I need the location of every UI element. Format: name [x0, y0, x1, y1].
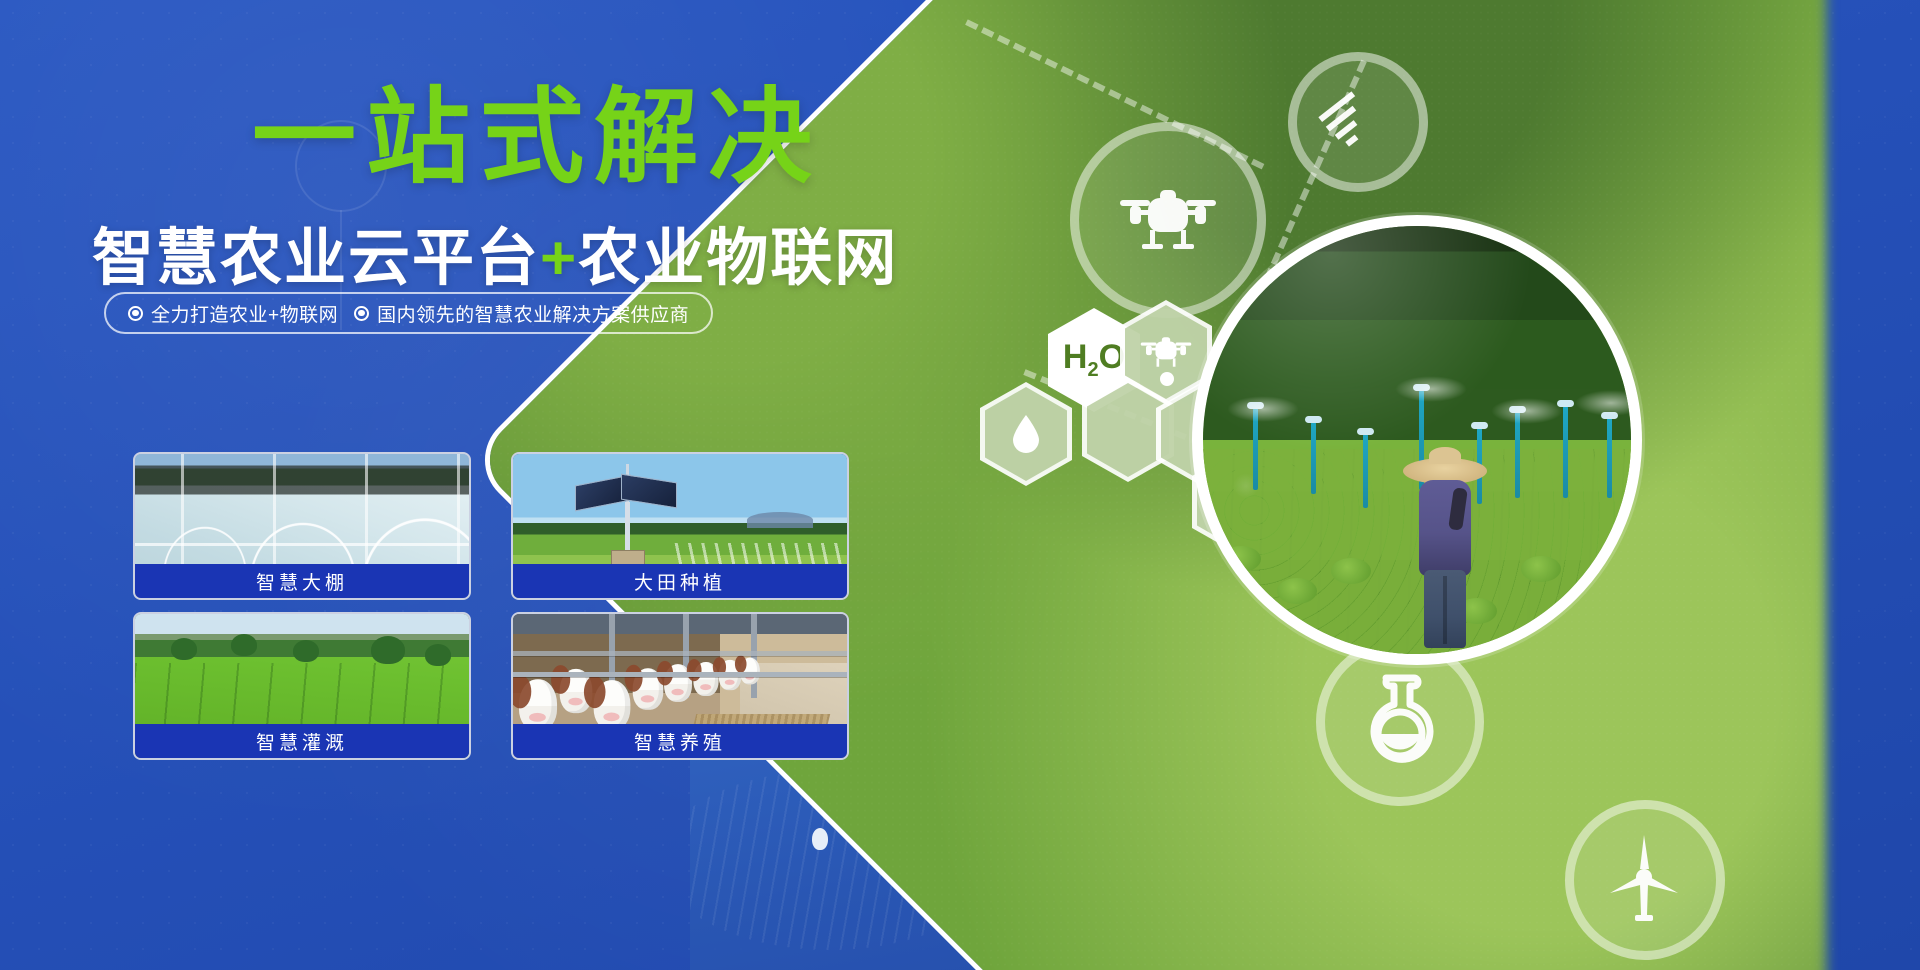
- hex-h2o-label: H2O: [1063, 338, 1125, 382]
- radio-dot-icon: [354, 306, 369, 321]
- page-title: 一站式解决: [252, 82, 822, 194]
- wifi-signal-icon: [1314, 71, 1408, 163]
- badge-wind-turbine[interactable]: [1565, 800, 1725, 960]
- subtitle-tail: 农业物联网: [578, 224, 898, 293]
- tagline-item-2: 国内领先的智慧农业解决方案供应商: [354, 300, 689, 327]
- card-field-planting-label: 大田种植: [513, 564, 847, 598]
- card-smart-irrigation-label: 智慧灌溉: [135, 724, 469, 758]
- hero-circle-photo[interactable]: [1192, 215, 1642, 665]
- buoy-icon: [812, 828, 828, 850]
- card-smart-irrigation[interactable]: 智慧灌溉: [133, 612, 471, 760]
- hex-connector-node: [1160, 372, 1174, 386]
- card-smart-breeding-label: 智慧养殖: [513, 724, 847, 758]
- subtitle-plus: +: [540, 224, 578, 293]
- page-subtitle: 智慧农业云平台+农业物联网: [92, 207, 898, 297]
- card-field-planting[interactable]: 大田种植: [511, 452, 849, 600]
- card-smart-greenhouse[interactable]: 智慧大棚: [133, 452, 471, 600]
- tagline-item-1: 全力打造农业+物联网: [128, 300, 338, 327]
- scenario-card-grid: 智慧大棚 大田种植 智慧灌溉: [133, 452, 849, 760]
- tagline-pill: 全力打造农业+物联网 国内领先的智慧农业解决方案供应商: [104, 292, 713, 334]
- water-drop-icon: [1011, 413, 1041, 455]
- card-smart-breeding[interactable]: 智慧养殖: [511, 612, 849, 760]
- card-smart-greenhouse-label: 智慧大棚: [135, 564, 469, 598]
- tagline-item-2-label: 国内领先的智慧农业解决方案供应商: [377, 300, 689, 327]
- wind-turbine-icon: [1604, 833, 1686, 928]
- drone-icon: [1138, 332, 1194, 372]
- flask-icon: [1362, 672, 1438, 773]
- radio-dot-icon: [128, 306, 143, 321]
- tagline-item-1-label: 全力打造农业+物联网: [151, 300, 338, 327]
- subtitle-main: 智慧农业云平台: [92, 224, 540, 293]
- badge-wifi-signal[interactable]: [1288, 52, 1428, 192]
- farmer-figure: [1399, 458, 1491, 648]
- agriculture-banner: H2O P: [0, 0, 1920, 970]
